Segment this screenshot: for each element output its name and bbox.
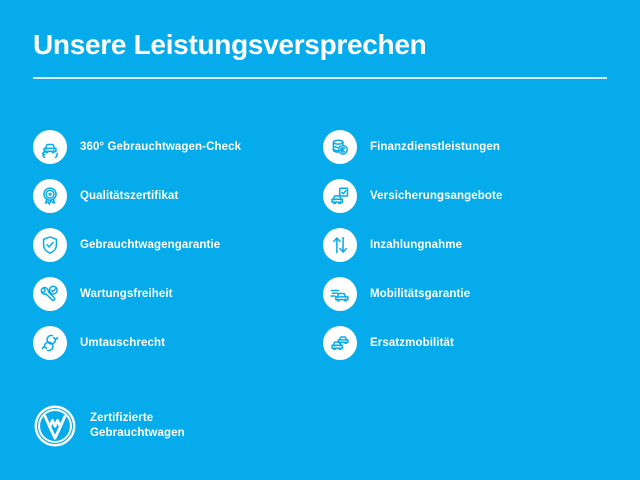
feature-label: Umtauschrecht: [80, 336, 165, 350]
header: Unsere Leistungsversprechen: [33, 28, 607, 79]
feature-item-qualitaetszertifikat[interactable]: Qualitätszertifikat: [33, 171, 323, 220]
feature-item-360-check[interactable]: 360° Gebrauchtwagen-Check: [33, 122, 323, 171]
car-motion-icon: [323, 277, 357, 311]
feature-item-inzahlungnahme[interactable]: Inzahlungnahme: [323, 220, 613, 269]
feature-label: Versicherungsangebote: [370, 189, 502, 203]
brand-text: Zertifizierte Gebrauchtwagen: [90, 411, 185, 441]
feature-label: 360° Gebrauchtwagen-Check: [80, 140, 241, 154]
feature-item-gebrauchtwagengarantie[interactable]: Gebrauchtwagengarantie: [33, 220, 323, 269]
two-cars-icon: [323, 326, 357, 360]
car-360-check-icon: [33, 130, 67, 164]
feature-item-ersatzmobilitaet[interactable]: Ersatzmobilität: [323, 318, 613, 367]
car-document-check-icon: [323, 179, 357, 213]
feature-label: Mobilitätsgarantie: [370, 287, 470, 301]
brand-line-1: Zertifizierte: [90, 411, 185, 426]
feature-label: Finanzdienstleistungen: [370, 140, 500, 154]
feature-item-mobilitaetsgarantie[interactable]: Mobilitätsgarantie: [323, 269, 613, 318]
coins-euro-icon: [323, 130, 357, 164]
quality-seal-icon: [33, 179, 67, 213]
feature-item-finanzdienstleistungen[interactable]: Finanzdienstleistungen: [323, 122, 613, 171]
feature-label: Ersatzmobilität: [370, 336, 454, 350]
arrows-up-down-icon: [323, 228, 357, 262]
promise-panel: Unsere Leistungsversprechen 360° Gebrauc…: [0, 0, 640, 480]
brand-badge: Zertifizierte Gebrauchtwagen: [33, 404, 185, 448]
feature-item-umtauschrecht[interactable]: Umtauschrecht: [33, 318, 323, 367]
brand-line-2: Gebrauchtwagen: [90, 426, 185, 441]
feature-item-wartungsfreiheit[interactable]: Wartungsfreiheit: [33, 269, 323, 318]
shield-check-icon: [33, 228, 67, 262]
page-title: Unsere Leistungsversprechen: [33, 28, 607, 62]
exchange-arrows-icon: [33, 326, 67, 360]
feature-item-versicherungsangebote[interactable]: Versicherungsangebote: [323, 171, 613, 220]
title-divider: [33, 77, 607, 79]
wrench-check-icon: [33, 277, 67, 311]
feature-label: Gebrauchtwagengarantie: [80, 238, 220, 252]
feature-label: Qualitätszertifikat: [80, 189, 178, 203]
feature-label: Inzahlungnahme: [370, 238, 462, 252]
vw-logo-icon: [33, 404, 77, 448]
features-grid: 360° Gebrauchtwagen-Check Finanzdienstle…: [33, 122, 613, 367]
feature-label: Wartungsfreiheit: [80, 287, 173, 301]
